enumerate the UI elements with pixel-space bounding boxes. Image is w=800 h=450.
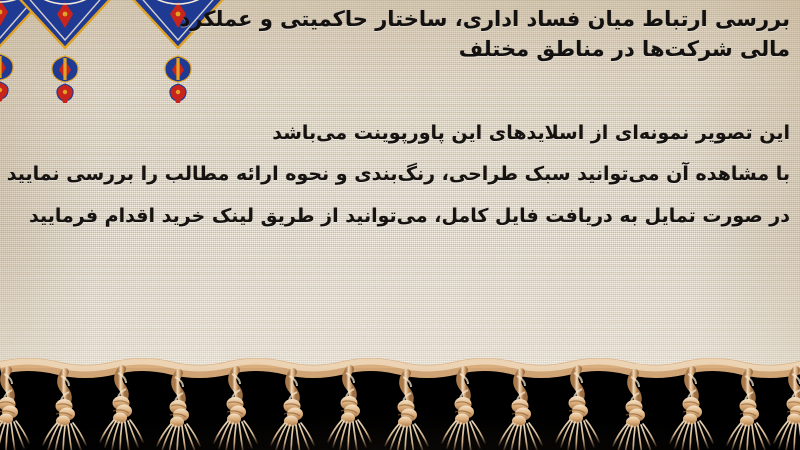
fringe-tassels-icon [0,352,800,450]
carpet-fringe [0,352,800,450]
title-line-2: مالی شرکت‌ها در مناطق مختلف [459,37,790,61]
body-text: این تصویر نمونه‌ای از اسلایدهای این پاور… [10,113,790,237]
body-line-3: در صورت تمایل به دریافت فایل کامل، می‌تو… [10,196,790,237]
slide-text-layer: بررسی ارتباط میان فساد اداری، ساختار حاک… [0,0,800,360]
slide-canvas: بررسی ارتباط میان فساد اداری، ساختار حاک… [0,0,800,450]
body-line-2: با مشاهده آن می‌توانید سبک طراحی، رنگ‌بن… [10,154,790,195]
body-line-1: این تصویر نمونه‌ای از اسلایدهای این پاور… [10,113,790,154]
title-line-1: بررسی ارتباط میان فساد اداری، ساختار حاک… [179,7,790,31]
page-title: بررسی ارتباط میان فساد اداری، ساختار حاک… [170,4,790,65]
